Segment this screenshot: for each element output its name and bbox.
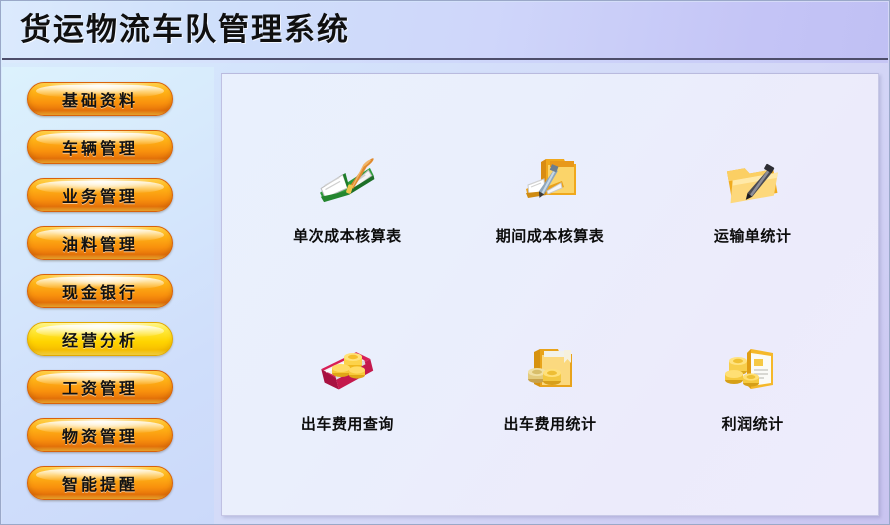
module-profit-statistics[interactable]: 利润统计 (651, 293, 854, 482)
pill-button-icon (27, 466, 173, 500)
application-window: 货运物流车队管理系统 基础资料 车辆管理 业务管理 油料管理 现金银行 (0, 0, 890, 525)
sidebar-item-smart-reminder[interactable]: 智能提醒 (27, 466, 173, 500)
open-folder-pen-icon (717, 151, 789, 213)
module-label: 出车费用统计 (503, 413, 596, 434)
module-dispatch-expense-statistics[interactable]: 出车费用统计 (449, 293, 652, 482)
sidebar-item-basic-data[interactable]: 基础资料 (27, 82, 173, 116)
sidebar-item-fuel-management[interactable]: 油料管理 (27, 226, 173, 260)
page-title: 货运物流车队管理系统 (20, 8, 350, 52)
pill-button-icon (27, 178, 173, 212)
sidebar-item-business-analysis[interactable]: 经营分析 (27, 322, 173, 356)
pill-button-icon (27, 274, 173, 308)
coins-document-icon (717, 339, 789, 401)
module-period-cost-sheet[interactable]: 期间成本核算表 (449, 104, 652, 293)
module-label: 利润统计 (722, 413, 784, 434)
module-waybill-statistics[interactable]: 运输单统计 (651, 104, 854, 293)
pill-button-icon (27, 130, 173, 164)
content-panel: 单次成本核算表 (221, 73, 879, 516)
sidebar-item-payroll-management[interactable]: 工资管理 (27, 370, 173, 404)
module-label: 运输单统计 (714, 225, 792, 246)
green-book-quill-icon (311, 151, 383, 213)
module-single-trip-cost-sheet[interactable]: 单次成本核算表 (246, 104, 449, 293)
pill-button-icon (27, 226, 173, 260)
yellow-folder-book-pen-icon (514, 151, 586, 213)
module-dispatch-expense-query[interactable]: 出车费用查询 (246, 293, 449, 482)
pill-button-icon (27, 370, 173, 404)
sidebar-item-materials-management[interactable]: 物资管理 (27, 418, 173, 452)
module-label: 单次成本核算表 (293, 225, 402, 246)
sidebar-item-vehicle-management[interactable]: 车辆管理 (27, 130, 173, 164)
module-label: 出车费用查询 (301, 413, 394, 434)
red-book-coins-icon (311, 339, 383, 401)
sidebar-item-cash-bank[interactable]: 现金银行 (27, 274, 173, 308)
folder-coins-icon (514, 339, 586, 401)
sidebar: 基础资料 车辆管理 业务管理 油料管理 现金银行 经营分析 (2, 67, 214, 524)
module-label: 期间成本核算表 (496, 225, 605, 246)
sidebar-item-business-management[interactable]: 业务管理 (27, 178, 173, 212)
pill-button-icon (27, 82, 173, 116)
pill-button-icon (27, 322, 173, 356)
icon-grid: 单次成本核算表 (222, 74, 878, 515)
title-bar: 货运物流车队管理系统 (2, 2, 888, 60)
pill-button-icon (27, 418, 173, 452)
